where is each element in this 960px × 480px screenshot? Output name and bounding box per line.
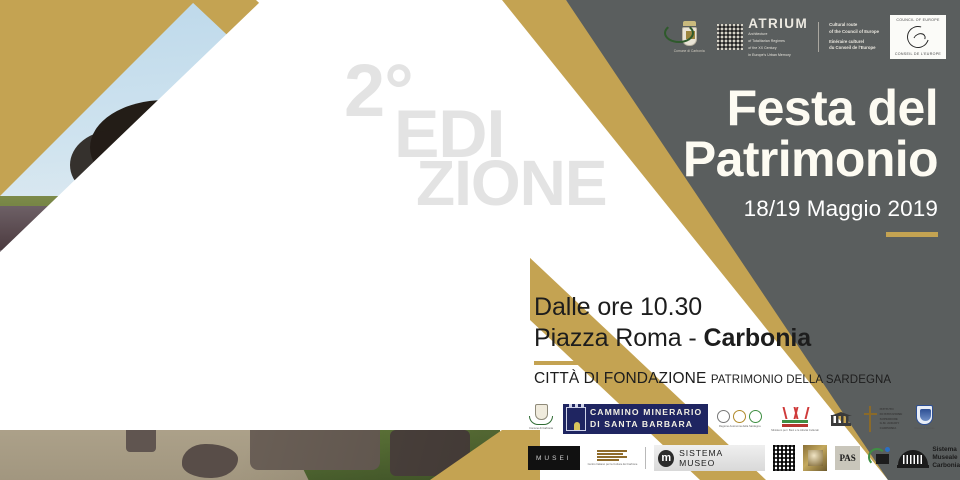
- atrium-pattern-icon: [717, 24, 743, 50]
- atrium-route-text: Cultural route of the Council of Europe …: [829, 22, 879, 52]
- diocesi-caption: Diocesi di Iglesias: [914, 427, 934, 430]
- red-bar-icon: [782, 424, 808, 427]
- smc-line-3: Carbonia: [932, 462, 960, 470]
- art-card-logo: [803, 445, 827, 471]
- headline-block: Festa del Patrimonio 18/19 Maggio 2019: [638, 84, 938, 237]
- regione-sardegna-logo: Regione Autonoma della Sardegna: [717, 410, 762, 428]
- event-dates: 18/19 Maggio 2019: [638, 196, 938, 222]
- centro-italiano-logo: Centro Italiano per la Cultura del Carbo…: [588, 450, 638, 466]
- istituto-line-2: DI ISTRUZIONE: [880, 412, 903, 417]
- coe-emblem-icon: [903, 22, 933, 52]
- pas-logo: PAS: [835, 446, 859, 470]
- centro-caption: Centro Italiano per la Cultura del Carbo…: [588, 463, 638, 466]
- top-logo-bar: Comune di Carbonia ATRIUM Architecture o…: [672, 8, 946, 66]
- black-wordmark-logo: MUSEI: [528, 446, 580, 470]
- istituto-superiore-logo: ISTITUTO DI ISTRUZIONE SUPERIORE G.M. AN…: [863, 406, 903, 432]
- event-place: Piazza Roma - Carbonia: [534, 323, 891, 354]
- wave-icon: [784, 407, 806, 419]
- atrium-subtitle-4: in Europe's Urban Memory: [748, 53, 808, 58]
- cammino-text: CAMMINO MINERARIO DI SANTA BARBARA: [590, 407, 702, 430]
- stacked-lines-icon: [597, 450, 627, 461]
- divider: [645, 447, 646, 469]
- tower-icon: [566, 407, 586, 431]
- subtitle-main: CITTÀ DI FONDAZIONE: [534, 370, 706, 387]
- compass-logo: [868, 446, 891, 470]
- art-icon: [808, 450, 823, 466]
- info-url[interactable]: www.comune.carbonia.ci.it: [200, 30, 540, 49]
- dome-icon: [898, 450, 928, 467]
- istituto-text: ISTITUTO DI ISTRUZIONE SUPERIORE G.M. AN…: [880, 407, 903, 430]
- edition-watermark: 2° EDI ZIONE: [330, 60, 650, 211]
- temple-icon: [831, 412, 851, 426]
- shield-icon: [916, 405, 933, 425]
- cammino-minerario-logo: CAMMINO MINERARIO DI SANTA BARBARA: [563, 404, 708, 434]
- details-gold-rule: [534, 361, 592, 365]
- sponsor-row-1: Comune di Carbonia CAMMINO MINERARIO DI …: [528, 402, 937, 436]
- event-place-city: Carbonia: [704, 324, 812, 352]
- atrium-subtitle-2: of Totalitarian Regimes: [748, 39, 808, 44]
- page-title-line-2: Patrimonio: [638, 135, 938, 184]
- info-title: Info e programma: [200, 12, 540, 30]
- atrium-logo: ATRIUM Architecture of Totalitarian Regi…: [717, 17, 879, 58]
- route-en-2: of the Council of Europe: [829, 29, 879, 35]
- council-of-europe-logo: COUNCIL OF EUROPE CONSEIL DE L'EUROPE: [890, 15, 946, 59]
- sistema-museale-carbonia-logo: Sistema Museale Carbonia: [898, 446, 960, 470]
- istituto-line-5: CARBONIA: [880, 426, 903, 431]
- route-fr-2: du Conseil de l'Europe: [829, 45, 879, 51]
- gold-accent-rule: [886, 232, 938, 237]
- cammino-line-1: CAMMINO MINERARIO: [590, 407, 702, 419]
- sponsor-row-2: MUSEI Centro Italiano per la Cultura del…: [528, 443, 960, 473]
- compass-dot-icon: [885, 447, 890, 452]
- event-place-prefix: Piazza Roma -: [534, 324, 704, 352]
- circle-icon: [733, 410, 746, 423]
- smc-line-2: Museale: [932, 454, 960, 462]
- comune-crest-small: Comune di Carbonia: [528, 404, 554, 434]
- headframe-icon: [863, 406, 877, 432]
- comune-di-carbonia-crest: Comune di Carbonia: [672, 21, 706, 53]
- poster-canvas: 2° EDI ZIONE Info e programma www.comune…: [0, 0, 960, 480]
- mibac-logo: Ministero per i Beni e le Attività Cultu…: [771, 407, 818, 432]
- edition-line-3: ZIONE: [330, 157, 650, 211]
- green-bar-icon: [782, 420, 808, 423]
- sistema-museale-text: Sistema Museale Carbonia: [932, 446, 960, 470]
- circle-icon: [749, 410, 762, 423]
- cammino-line-2: DI SANTA BARBARA: [590, 419, 702, 431]
- compass-flag-icon: [876, 454, 889, 464]
- info-block: Info e programma www.comune.carbonia.ci.…: [200, 12, 540, 48]
- temple-logo: [828, 406, 854, 432]
- wreath-icon: [529, 416, 553, 425]
- event-details-block: Dalle ore 10.30 Piazza Roma - Carbonia C…: [534, 292, 891, 388]
- mibac-caption: Ministero per i Beni e le Attività Cultu…: [771, 429, 818, 432]
- atrium-title: ATRIUM: [748, 17, 808, 31]
- atrium-text-block: ATRIUM Architecture of Totalitarian Regi…: [748, 17, 808, 58]
- atrium-subtitle-1: Architecture: [748, 32, 808, 37]
- coe-top-text: COUNCIL OF EUROPE: [896, 18, 939, 22]
- circle-icon: [717, 410, 730, 423]
- maze-pattern-logo: [773, 445, 796, 471]
- diocesi-crest: Diocesi di Iglesias: [911, 405, 937, 433]
- page-title-line-1: Festa del: [638, 84, 938, 133]
- regione-mark-icon: [717, 410, 762, 423]
- regione-caption: Regione Autonoma della Sardegna: [719, 425, 761, 428]
- crest-caption: Comune di Carbonia: [529, 427, 553, 430]
- sistema-museo-text: SISTEMA MUSEO: [679, 448, 756, 468]
- atrium-divider: [818, 22, 819, 52]
- subtitle-small: PATRIMONIO DELLA SARDEGNA: [711, 374, 891, 386]
- event-subtitle: CITTÀ DI FONDAZIONE PATRIMONIO DELLA SAR…: [534, 370, 891, 388]
- sistema-museo-logo: m SISTEMA MUSEO: [654, 445, 764, 471]
- coe-bottom-text: CONSEIL DE L'EUROPE: [895, 52, 941, 56]
- atrium-subtitle-3: of the XX Century: [748, 46, 808, 51]
- sistema-monogram-icon: m: [658, 450, 674, 467]
- smc-line-1: Sistema: [932, 446, 960, 454]
- crest-caption: Comune di Carbonia: [674, 49, 705, 53]
- event-time: Dalle ore 10.30: [534, 292, 891, 323]
